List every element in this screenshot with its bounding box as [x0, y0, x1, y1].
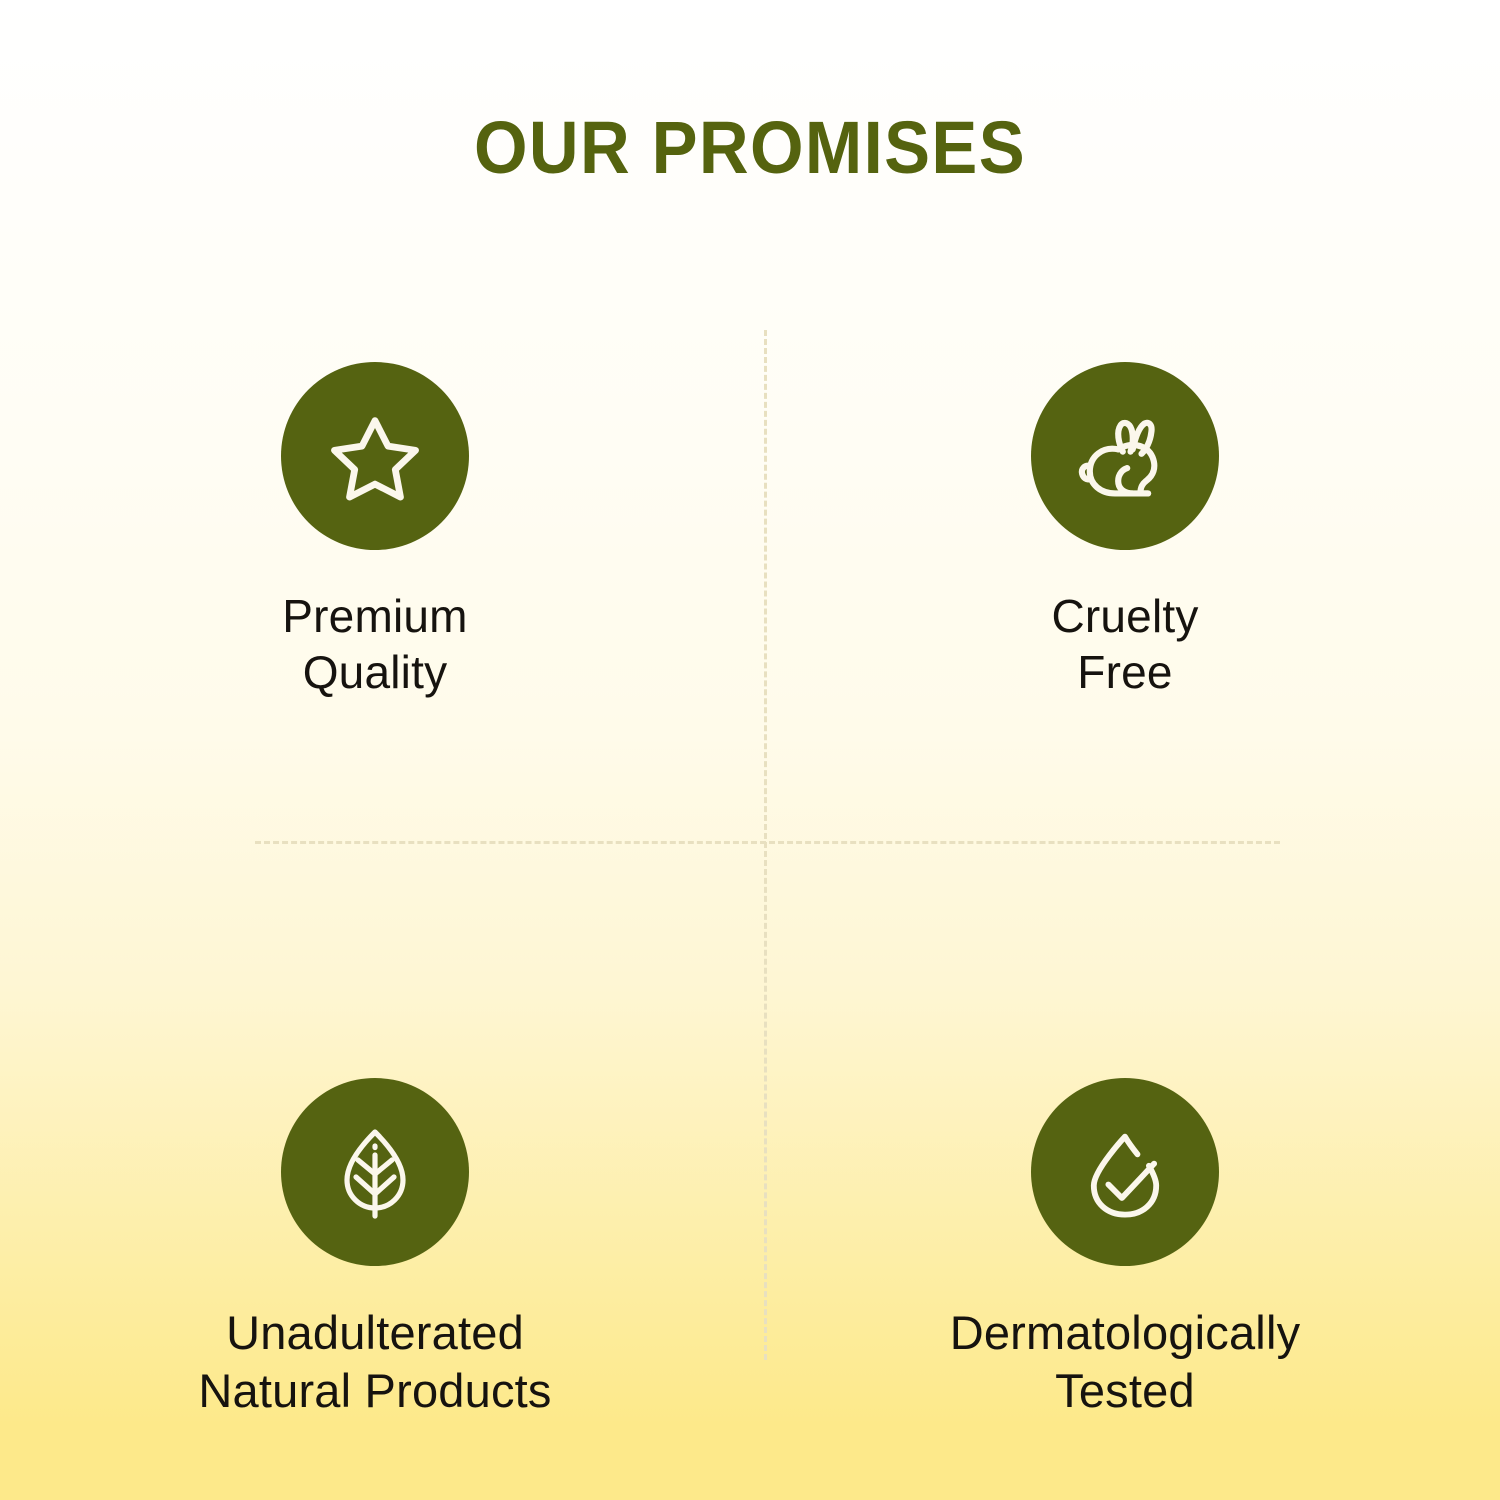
star-icon: [323, 404, 427, 508]
promise-grid: Premium Quality: [0, 330, 1500, 1420]
promise-label: Cruelty Free: [1051, 588, 1198, 700]
droplet-check-icon: [1073, 1120, 1177, 1224]
promise-item-natural-products: Unadulterated Natural Products: [0, 795, 750, 1420]
promise-icon-badge: [281, 1078, 469, 1266]
promise-item-cruelty-free: Cruelty Free: [750, 330, 1500, 795]
promise-item-dermatologically-tested: Dermatologically Tested: [750, 795, 1500, 1420]
page-title: OUR PROMISES: [53, 105, 1448, 191]
promise-label: Premium Quality: [282, 588, 467, 700]
promise-label: Dermatologically Tested: [950, 1304, 1301, 1420]
promise-icon-badge: [1031, 1078, 1219, 1266]
promise-icon-badge: [1031, 362, 1219, 550]
leaf-icon: [325, 1122, 425, 1222]
promise-item-premium-quality: Premium Quality: [0, 330, 750, 795]
rabbit-icon: [1070, 401, 1180, 511]
promise-icon-badge: [281, 362, 469, 550]
promise-label: Unadulterated Natural Products: [198, 1304, 551, 1420]
our-promises-panel: OUR PROMISES Premium Quality: [0, 0, 1500, 1500]
